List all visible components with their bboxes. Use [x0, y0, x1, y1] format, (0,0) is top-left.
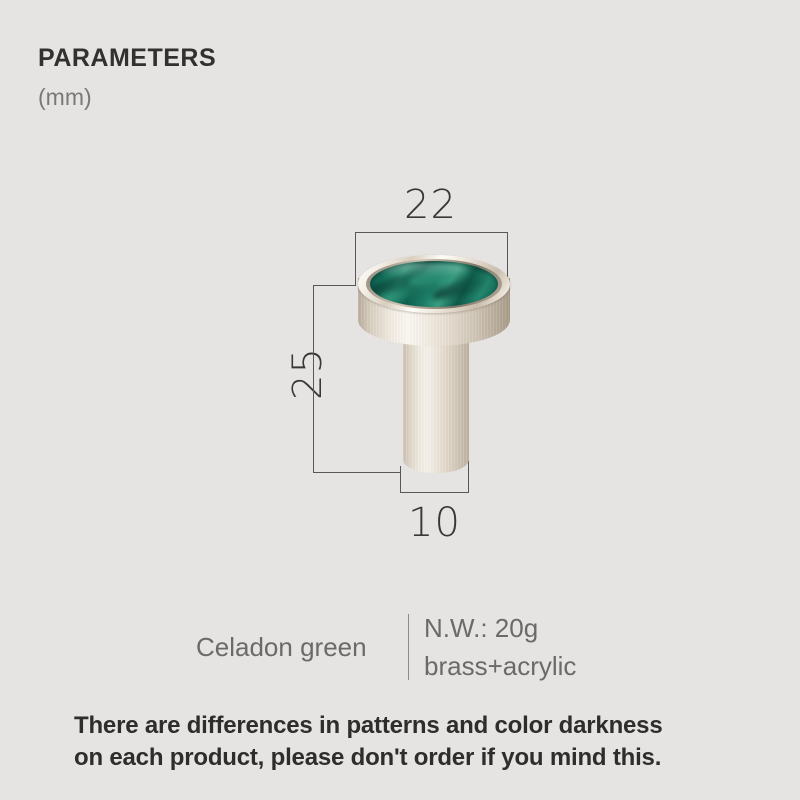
spec-material: brass+acrylic [424, 651, 576, 682]
disclaimer-line-1: There are differences in patterns and co… [74, 712, 662, 740]
dimension-line-stem [400, 492, 469, 493]
disclaimer-line-2: on each product, please don't order if y… [74, 744, 661, 772]
dimension-label-stem: 10 [408, 500, 461, 546]
product-illustration-knob [330, 240, 540, 490]
product-parameters-sheet: PARAMETERS (mm) 22 25 10 Celadon green N… [0, 0, 800, 800]
dimension-label-width: 22 [404, 182, 457, 228]
spec-divider [408, 614, 409, 680]
page-title: PARAMETERS [38, 44, 216, 73]
spec-color-name: Celadon green [196, 632, 367, 663]
dimension-line-width [355, 232, 508, 233]
knob-acrylic-inlay [370, 261, 498, 307]
inlay-gloss-highlight [378, 263, 468, 277]
dimension-line-height [313, 285, 314, 473]
knob-stem [403, 340, 469, 473]
dimension-label-height: 25 [285, 347, 331, 400]
unit-subtitle: (mm) [38, 84, 92, 111]
spec-net-weight: N.W.: 20g [424, 613, 538, 644]
